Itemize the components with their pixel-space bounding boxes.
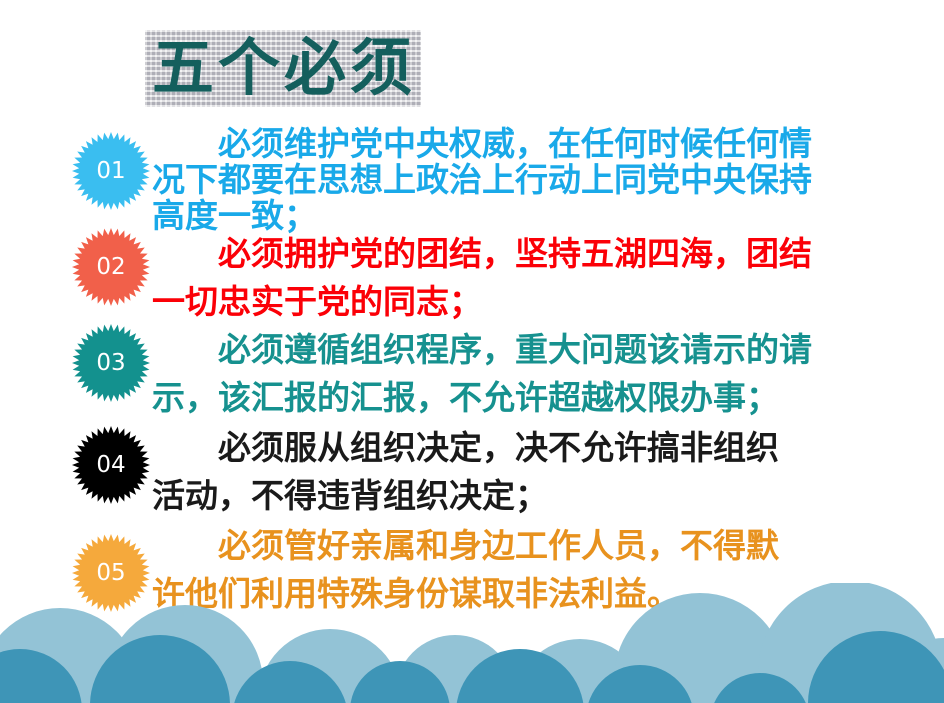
badge-number-02: 02 [96,254,125,280]
starburst-icon-04: 04 [72,426,150,504]
starburst-icon-02: 02 [72,228,150,306]
item-text-04: 必须服从组织决定，决不允许搞非组织 活动，不得违背组织决定； [152,424,942,520]
badge-01: 01 [68,128,154,214]
badge-02: 02 [68,224,154,310]
starburst-icon-03: 03 [72,324,150,402]
badge-number-04: 04 [96,452,125,478]
item-text-01: 必须维护党中央权威，在任何时候任何情 况下都要在思想上政治上行动上同党中央保持 … [152,126,942,234]
cloud-bubbles-footer [0,583,944,703]
badge-03: 03 [68,320,154,406]
badge-number-01: 01 [96,158,125,184]
starburst-icon-01: 01 [72,132,150,210]
page-title: 五个必须 [152,24,572,114]
item-text-02: 必须拥护党的团结，坚持五湖四海，团结 一切忠实于党的同志； [152,230,942,326]
item-text-03: 必须遵循组织程序，重大问题该请示的请 示，该汇报的汇报，不允许超越权限办事； [152,326,942,422]
badge-04: 04 [68,422,154,508]
badge-number-03: 03 [96,350,125,376]
slide-canvas: 五个必须 01 必须维护党中央权威，在任何时候任何情 况下都要在思想上政治上行动… [0,0,944,703]
